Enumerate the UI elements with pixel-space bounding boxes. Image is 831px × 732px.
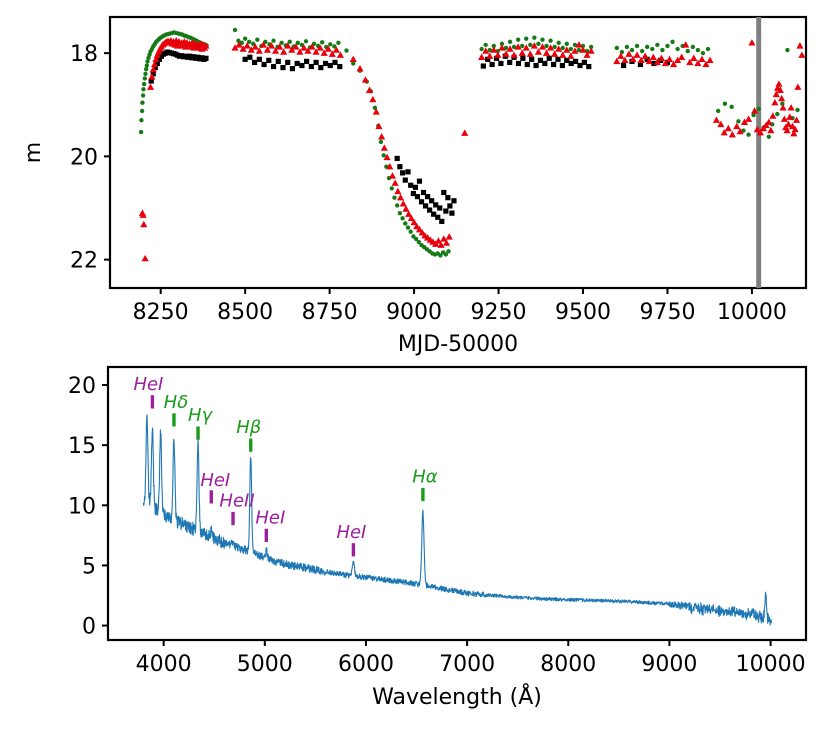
data-point: [621, 63, 626, 68]
data-point: [675, 47, 679, 51]
data-point: [655, 43, 659, 47]
x-axis-label: Wavelength (Å): [372, 683, 542, 710]
data-point: [328, 63, 333, 68]
y-tick-label: 20: [68, 374, 96, 399]
y-tick-label: 18: [70, 42, 98, 67]
data-point: [285, 60, 290, 65]
data-point: [243, 36, 247, 40]
data-point: [691, 45, 695, 49]
x-tick-label: 5000: [237, 652, 293, 677]
data-point: [299, 63, 304, 68]
data-point: [696, 48, 700, 52]
line-marker-label: HeI: [133, 374, 163, 395]
data-point: [490, 62, 495, 67]
x-tick-label: 8250: [133, 300, 189, 325]
data-point: [233, 28, 237, 32]
data-point: [569, 47, 573, 51]
data-point: [406, 225, 410, 229]
data-point: [552, 45, 556, 49]
data-point: [400, 216, 404, 220]
data-point: [650, 47, 654, 51]
y-tick-label: 0: [82, 615, 96, 640]
data-point: [736, 119, 740, 123]
data-point: [271, 39, 275, 43]
data-point: [481, 63, 486, 68]
data-point: [344, 48, 348, 52]
data-point: [395, 203, 399, 207]
data-point: [548, 39, 552, 43]
data-point: [795, 108, 799, 112]
data-point: [660, 48, 664, 52]
data-point: [332, 60, 337, 65]
data-point: [415, 194, 420, 199]
data-point: [528, 43, 532, 47]
data-point: [304, 39, 308, 43]
data-point: [635, 44, 639, 48]
data-point: [290, 66, 295, 71]
data-point: [266, 58, 271, 63]
data-point: [706, 47, 710, 51]
data-point: [645, 45, 649, 49]
x-tick-label: 9750: [639, 300, 695, 325]
data-point: [686, 49, 690, 53]
line-marker-label: Hα: [412, 466, 438, 487]
x-tick-label: 6000: [338, 652, 394, 677]
data-point: [318, 65, 323, 70]
data-point: [746, 133, 750, 137]
data-point: [449, 211, 454, 216]
data-point: [139, 118, 143, 122]
x-tick-label: 9500: [555, 300, 611, 325]
data-point: [408, 183, 413, 188]
data-point: [780, 102, 784, 106]
data-point: [533, 63, 538, 68]
x-tick-label: 9000: [641, 652, 697, 677]
data-point: [397, 164, 402, 169]
data-point: [446, 249, 450, 253]
data-point: [520, 56, 525, 61]
y-axis-label: m: [21, 142, 46, 163]
data-point: [320, 40, 324, 44]
data-point: [336, 41, 340, 45]
data-point: [508, 40, 512, 44]
x-axis-label: MJD-50000: [398, 332, 518, 357]
x-tick-label: 9000: [386, 300, 442, 325]
line-marker-label: HeI: [336, 522, 366, 543]
data-point: [309, 64, 314, 69]
data-point: [767, 135, 771, 139]
y-tick-label: 20: [70, 145, 98, 170]
lightcurve-svg: 825085008750900092509500975010000182022M…: [0, 0, 831, 366]
data-point: [403, 221, 407, 225]
data-point: [516, 38, 520, 42]
line-marker-label: HeI: [200, 470, 230, 491]
line-marker-label: HeI: [255, 507, 285, 528]
data-point: [479, 47, 483, 51]
data-point: [441, 190, 446, 195]
line-marker-label: HeII: [219, 491, 254, 512]
data-point: [409, 230, 413, 234]
data-point: [516, 61, 521, 66]
x-tick-label: 9250: [471, 300, 527, 325]
line-marker-label: Hγ: [188, 405, 214, 426]
y-tick-label: 5: [82, 554, 96, 579]
data-point: [542, 61, 547, 66]
data-point: [271, 64, 276, 69]
data-point: [390, 186, 394, 190]
data-point: [395, 156, 400, 161]
data-point: [565, 42, 569, 46]
data-point: [142, 82, 146, 86]
data-point: [484, 43, 488, 47]
x-tick-label: 10000: [717, 300, 787, 325]
data-point: [447, 203, 452, 208]
data-point: [144, 67, 148, 71]
figure-canvas: 825085008750900092509500975010000182022M…: [0, 0, 831, 732]
data-point: [560, 63, 565, 68]
data-point: [257, 57, 262, 62]
data-point: [145, 63, 149, 67]
data-point: [723, 102, 727, 106]
data-point: [295, 61, 300, 66]
data-point: [544, 44, 548, 48]
data-point: [525, 62, 530, 67]
data-point: [403, 178, 408, 183]
x-tick-label: 4000: [136, 652, 192, 677]
y-tick-label: 22: [70, 249, 98, 274]
x-tick-label: 7000: [439, 652, 495, 677]
data-point: [532, 35, 536, 39]
data-point: [255, 38, 259, 42]
data-point: [757, 107, 761, 111]
data-point: [323, 61, 328, 66]
data-point: [586, 64, 591, 69]
x-tick-label: 8750: [302, 300, 358, 325]
data-point: [615, 46, 619, 50]
x-tick-label: 8000: [540, 652, 596, 677]
data-point: [665, 44, 669, 48]
y-tick-label: 15: [68, 434, 96, 459]
line-marker-label: Hβ: [236, 417, 261, 438]
data-point: [524, 36, 528, 40]
data-point: [529, 57, 534, 62]
data-point: [141, 87, 145, 91]
data-point: [261, 62, 266, 67]
spectrum-svg: 4000500060007000800090001000005101520Wav…: [0, 355, 831, 732]
data-point: [716, 109, 720, 113]
data-point: [328, 42, 332, 46]
data-point: [443, 208, 448, 213]
data-point: [775, 112, 779, 116]
data-point: [785, 48, 789, 52]
data-point: [400, 170, 405, 175]
data-point: [405, 169, 410, 174]
data-point: [536, 42, 540, 46]
x-tick-label: 8500: [217, 300, 273, 325]
data-point: [379, 140, 383, 144]
data-point: [143, 76, 147, 80]
data-point: [729, 105, 733, 109]
data-point: [561, 46, 565, 50]
data-point: [701, 51, 705, 55]
data-point: [551, 62, 556, 67]
data-point: [630, 48, 634, 52]
data-point: [337, 64, 342, 69]
data-point: [413, 185, 418, 190]
data-point: [540, 38, 544, 42]
data-point: [141, 93, 145, 97]
data-point: [670, 40, 674, 44]
y-tick-label: 10: [68, 494, 96, 519]
data-point: [520, 44, 524, 48]
line-marker-label: Hδ: [164, 392, 189, 413]
data-point: [243, 57, 248, 62]
data-point: [313, 60, 318, 65]
data-point: [140, 109, 144, 113]
data-point: [252, 60, 257, 65]
data-point: [640, 49, 644, 53]
x-tick-label: 10000: [736, 652, 806, 677]
data-point: [445, 195, 450, 200]
data-point: [381, 153, 385, 157]
lightcurve-panel: 825085008750900092509500975010000182022M…: [0, 0, 831, 366]
data-point: [439, 219, 444, 224]
data-point: [392, 195, 396, 199]
data-point: [498, 61, 503, 66]
data-point: [417, 179, 422, 184]
data-point: [280, 65, 285, 70]
data-point: [304, 59, 309, 64]
data-point: [547, 56, 552, 61]
data-point: [625, 45, 629, 49]
data-point: [451, 198, 456, 203]
data-point: [139, 130, 143, 134]
data-point: [247, 55, 252, 60]
data-point: [276, 59, 281, 64]
data-point: [143, 72, 147, 76]
data-point: [556, 41, 560, 45]
data-point: [140, 101, 144, 105]
data-point: [437, 205, 442, 210]
data-point: [507, 60, 512, 65]
data-point: [398, 211, 402, 215]
spectrum-panel: 4000500060007000800090001000005101520Wav…: [0, 355, 831, 732]
data-point: [203, 56, 208, 61]
